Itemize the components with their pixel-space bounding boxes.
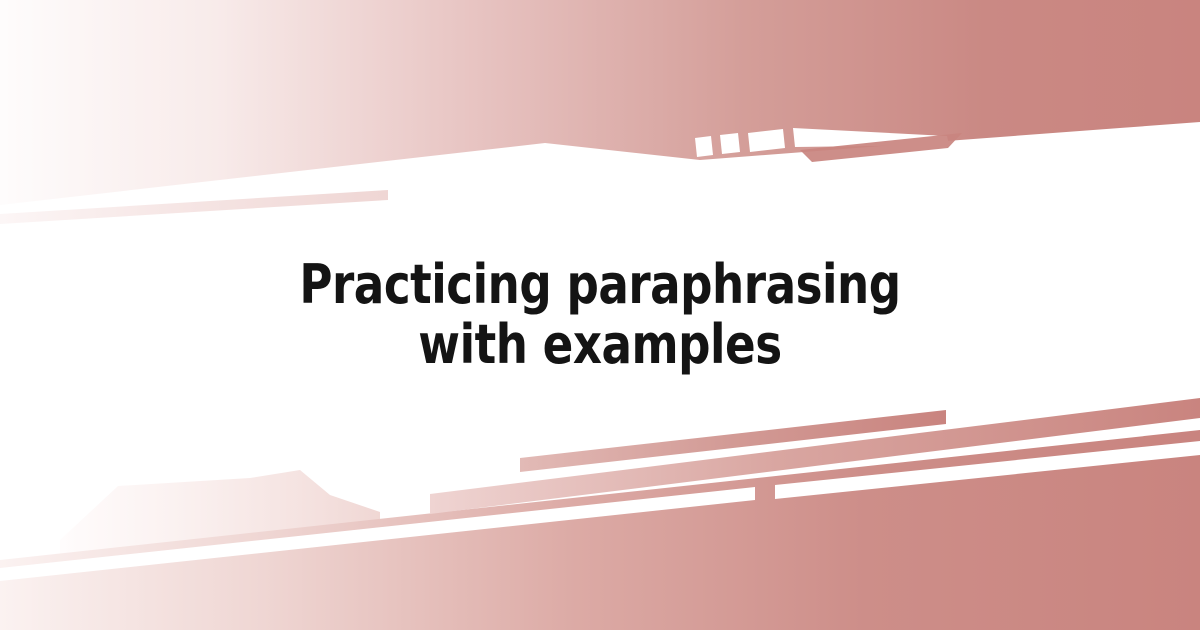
- banner-canvas: Practicing paraphrasing with examples: [0, 0, 1200, 630]
- top-gradient-band: [0, 0, 1200, 205]
- decorative-background: [0, 0, 1200, 630]
